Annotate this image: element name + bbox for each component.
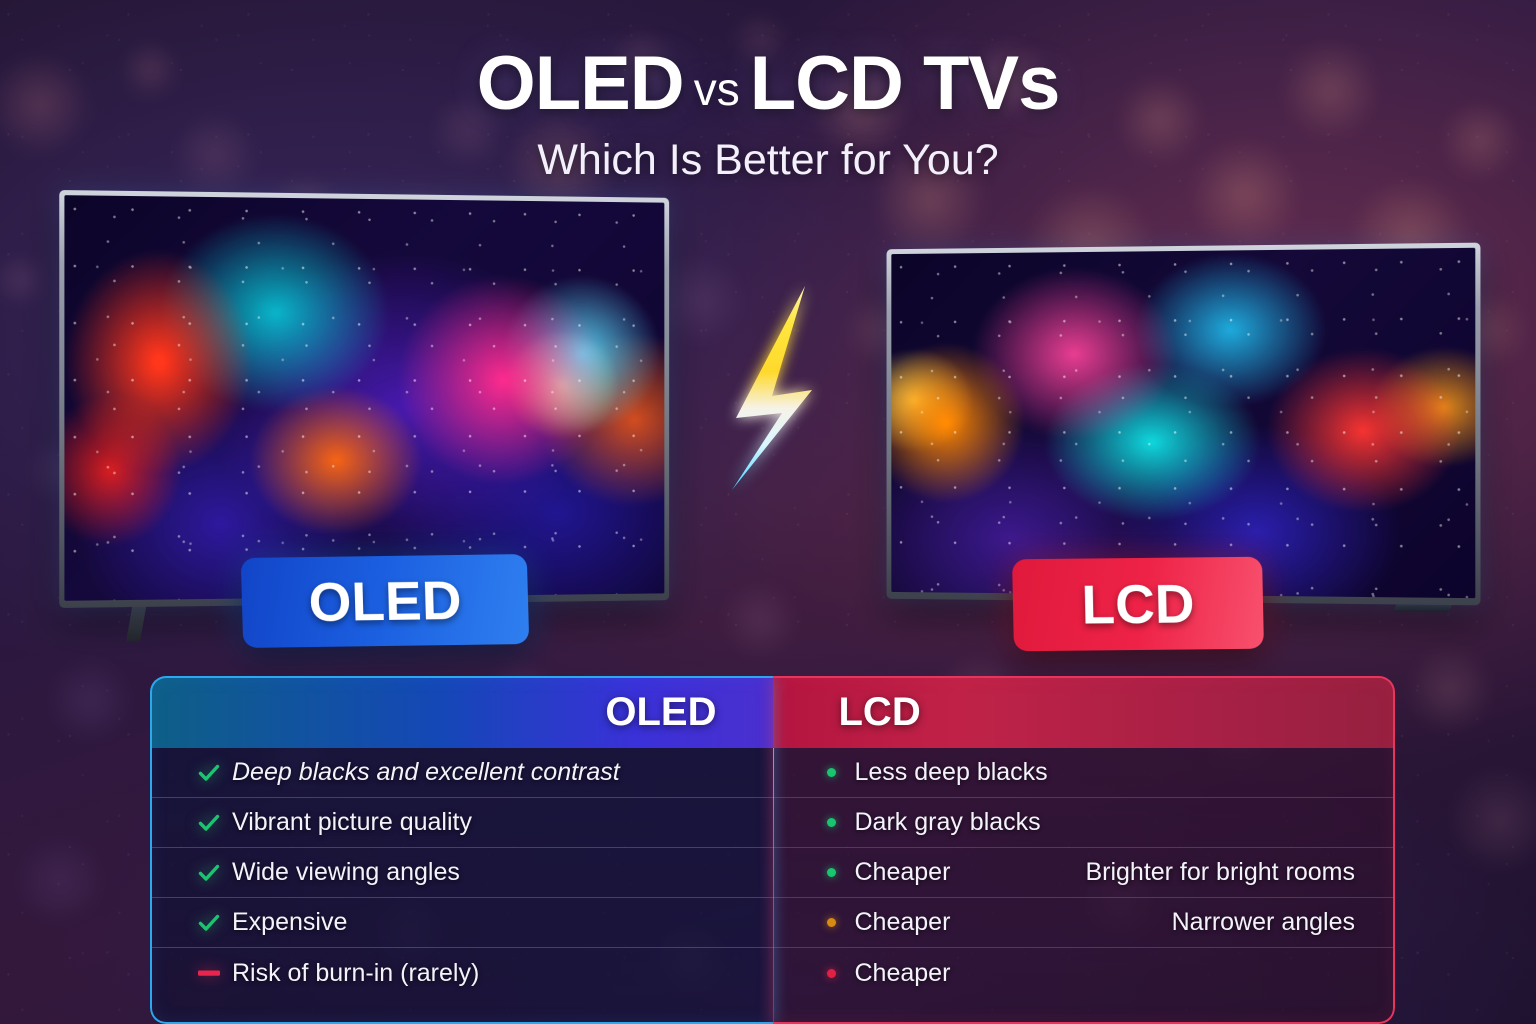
table-header-lcd-label: LCD bbox=[839, 690, 921, 735]
table-row: Expensive bbox=[150, 898, 773, 948]
table-cell-text: Risk of burn-in (rarely) bbox=[232, 959, 479, 988]
table-header-oled-label: OLED bbox=[605, 690, 716, 735]
table-cell-text: Cheaper bbox=[855, 858, 951, 887]
table-row: Vibrant picture quality bbox=[150, 798, 773, 848]
table-cell-extra: Brighter for bright rooms bbox=[1085, 858, 1355, 887]
bullet-dot-icon bbox=[819, 969, 845, 978]
screen-sparkle-left bbox=[64, 195, 664, 601]
table-cell-text: Expensive bbox=[232, 908, 347, 937]
title-part-lcd: LCD TVs bbox=[750, 41, 1060, 126]
title-vs: vs bbox=[694, 63, 740, 115]
badge-oled[interactable]: OLED bbox=[241, 554, 530, 648]
table-cell-text: Wide viewing angles bbox=[232, 858, 460, 887]
badge-lcd[interactable]: LCD bbox=[1012, 557, 1264, 652]
table-row: Deep blacks and excellent contrast bbox=[150, 748, 773, 798]
check-icon bbox=[196, 761, 222, 785]
table-row: Risk of burn-in (rarely) bbox=[150, 948, 773, 998]
table-cell-extra: Narrower angles bbox=[1172, 908, 1355, 937]
table-row: Wide viewing angles bbox=[150, 848, 773, 898]
bullet-dot-icon bbox=[819, 918, 845, 927]
badge-lcd-label: LCD bbox=[1081, 571, 1195, 636]
page-title: OLEDvsLCD TVs bbox=[0, 46, 1536, 122]
table-row: CheaperBrighter for bright rooms bbox=[773, 848, 1396, 898]
tv-screen-right bbox=[891, 248, 1475, 598]
table-header-oled: OLED bbox=[150, 676, 773, 748]
badge-oled-label: OLED bbox=[308, 568, 463, 634]
tv-screen-left bbox=[64, 195, 664, 601]
bullet-dot-icon bbox=[819, 818, 845, 827]
check-icon bbox=[196, 861, 222, 885]
table-cell-text: Cheaper bbox=[855, 908, 951, 937]
table-column-lcd: Less deep blacksDark gray blacksCheaperB… bbox=[773, 748, 1396, 1024]
table-cell-text: Deep blacks and excellent contrast bbox=[232, 758, 620, 787]
check-icon bbox=[196, 911, 222, 935]
table-cell-text: Cheaper bbox=[855, 959, 951, 988]
minus-icon bbox=[196, 968, 222, 978]
screen-sparkle-right bbox=[891, 248, 1475, 598]
bullet-dot-icon bbox=[819, 868, 845, 877]
tv-lcd bbox=[887, 243, 1481, 606]
table-cell-text: Dark gray blacks bbox=[855, 808, 1041, 837]
table-cell-text: Less deep blacks bbox=[855, 758, 1048, 787]
table-row: Dark gray blacks bbox=[773, 798, 1396, 848]
page-subtitle: Which Is Better for You? bbox=[0, 136, 1536, 185]
lightning-bolt-icon bbox=[700, 278, 850, 568]
check-icon bbox=[196, 811, 222, 835]
table-column-oled: Deep blacks and excellent contrastVibran… bbox=[150, 748, 773, 1024]
table-cell-text: Vibrant picture quality bbox=[232, 808, 472, 837]
table-row: CheaperNarrower angles bbox=[773, 898, 1396, 948]
comparison-table: OLED LCD Deep blacks and excellent contr… bbox=[150, 676, 1395, 1024]
table-header-lcd: LCD bbox=[773, 676, 1396, 748]
table-column-divider bbox=[773, 748, 774, 1024]
tv-oled bbox=[59, 190, 669, 608]
header-block: OLEDvsLCD TVs Which Is Better for You? bbox=[0, 0, 1536, 185]
bullet-dot-icon bbox=[819, 768, 845, 777]
title-part-oled: OLED bbox=[477, 41, 684, 126]
table-header-row: OLED LCD bbox=[150, 676, 1395, 748]
infographic-canvas: OLEDvsLCD TVs Which Is Better for You? bbox=[0, 0, 1536, 1024]
table-row: Cheaper bbox=[773, 948, 1396, 998]
table-row: Less deep blacks bbox=[773, 748, 1396, 798]
